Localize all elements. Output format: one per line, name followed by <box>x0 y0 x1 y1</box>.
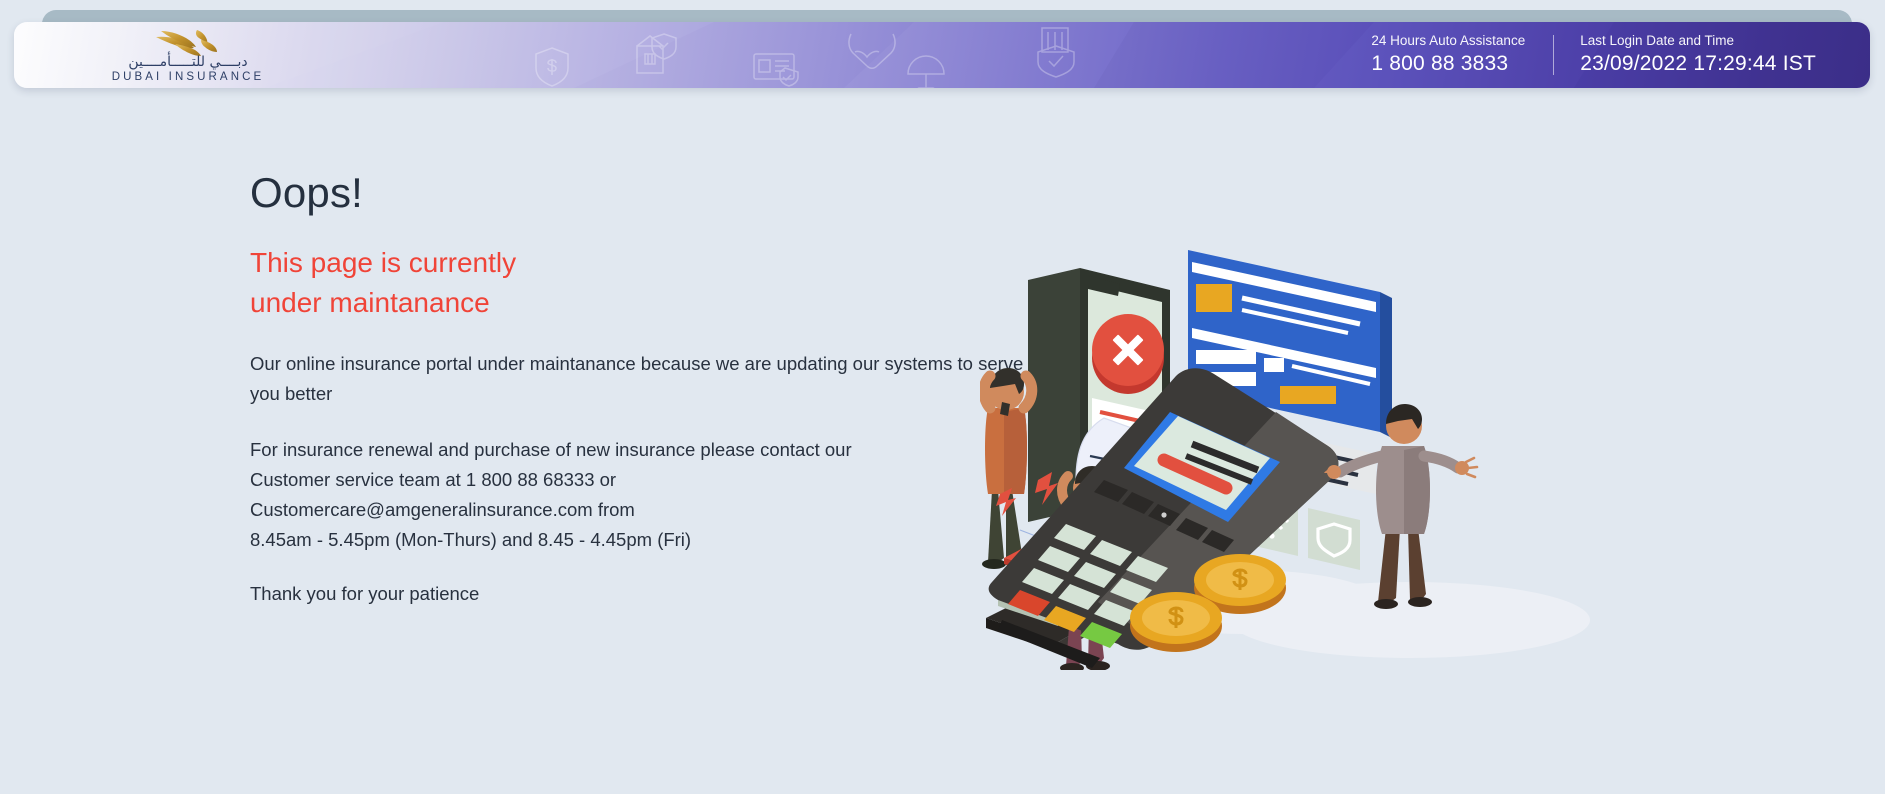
contact-line-2: Customer service team at 1 800 88 68333 … <box>250 465 1030 495</box>
maintenance-paragraph-1: Our online insurance portal under mainta… <box>250 349 1030 409</box>
tall-building-shield-icon <box>1034 26 1080 78</box>
header-info-group: 24 Hours Auto Assistance 1 800 88 3833 L… <box>1347 22 1840 88</box>
site-header: دبــــي للتـــــأمــــين DUBAI INSURANCE… <box>0 0 1885 110</box>
maintenance-subtitle: This page is currently under maintanance <box>250 243 1030 323</box>
last-login-block: Last Login Date and Time 23/09/2022 17:2… <box>1554 33 1840 77</box>
contact-line-1: For insurance renewal and purchase of ne… <box>250 435 1030 465</box>
building-shield-check-icon <box>634 32 678 76</box>
brand-logo[interactable]: دبــــي للتـــــأمــــين DUBAI INSURANCE <box>78 26 298 86</box>
header-card: دبــــي للتـــــأمــــين DUBAI INSURANCE… <box>14 22 1870 88</box>
maintenance-error-illustration <box>980 150 1620 670</box>
logo-arabic-text: دبــــي للتـــــأمــــين <box>128 55 247 69</box>
last-login-label: Last Login Date and Time <box>1580 33 1816 49</box>
auto-assistance-label: 24 Hours Auto Assistance <box>1371 33 1525 49</box>
page-title: Oops! <box>250 170 1030 216</box>
main-content: Oops! This page is currently under maint… <box>0 110 1885 794</box>
contact-line-4: 8.45am - 5.45pm (Mon-Thurs) and 8.45 - 4… <box>250 525 1030 555</box>
contact-line-3: Customercare@amgeneralinsurance.com from <box>250 495 1030 525</box>
last-login-value: 23/09/2022 17:29:44 IST <box>1580 51 1816 77</box>
auto-assistance-number[interactable]: 1 800 88 3833 <box>1371 51 1525 77</box>
thank-you-message: Thank you for your patience <box>250 579 1030 609</box>
shield-dollar-icon <box>534 46 570 88</box>
maintenance-message-column: Oops! This page is currently under maint… <box>250 170 1030 608</box>
hands-care-icon <box>846 30 898 72</box>
auto-assistance-block: 24 Hours Auto Assistance 1 800 88 3833 <box>1347 33 1553 77</box>
umbrella-money-icon <box>904 54 948 88</box>
shrugging-person-icon <box>1324 404 1477 609</box>
falcon-icon <box>151 28 225 56</box>
logo-english-text: DUBAI INSURANCE <box>112 72 265 84</box>
stressed-person-icon <box>982 368 1032 569</box>
id-card-shield-icon <box>752 50 806 88</box>
subtitle-line-2: under maintanance <box>250 283 1030 323</box>
subtitle-line-1: This page is currently <box>250 243 1030 283</box>
maintenance-paragraph-2: For insurance renewal and purchase of ne… <box>250 435 1030 555</box>
